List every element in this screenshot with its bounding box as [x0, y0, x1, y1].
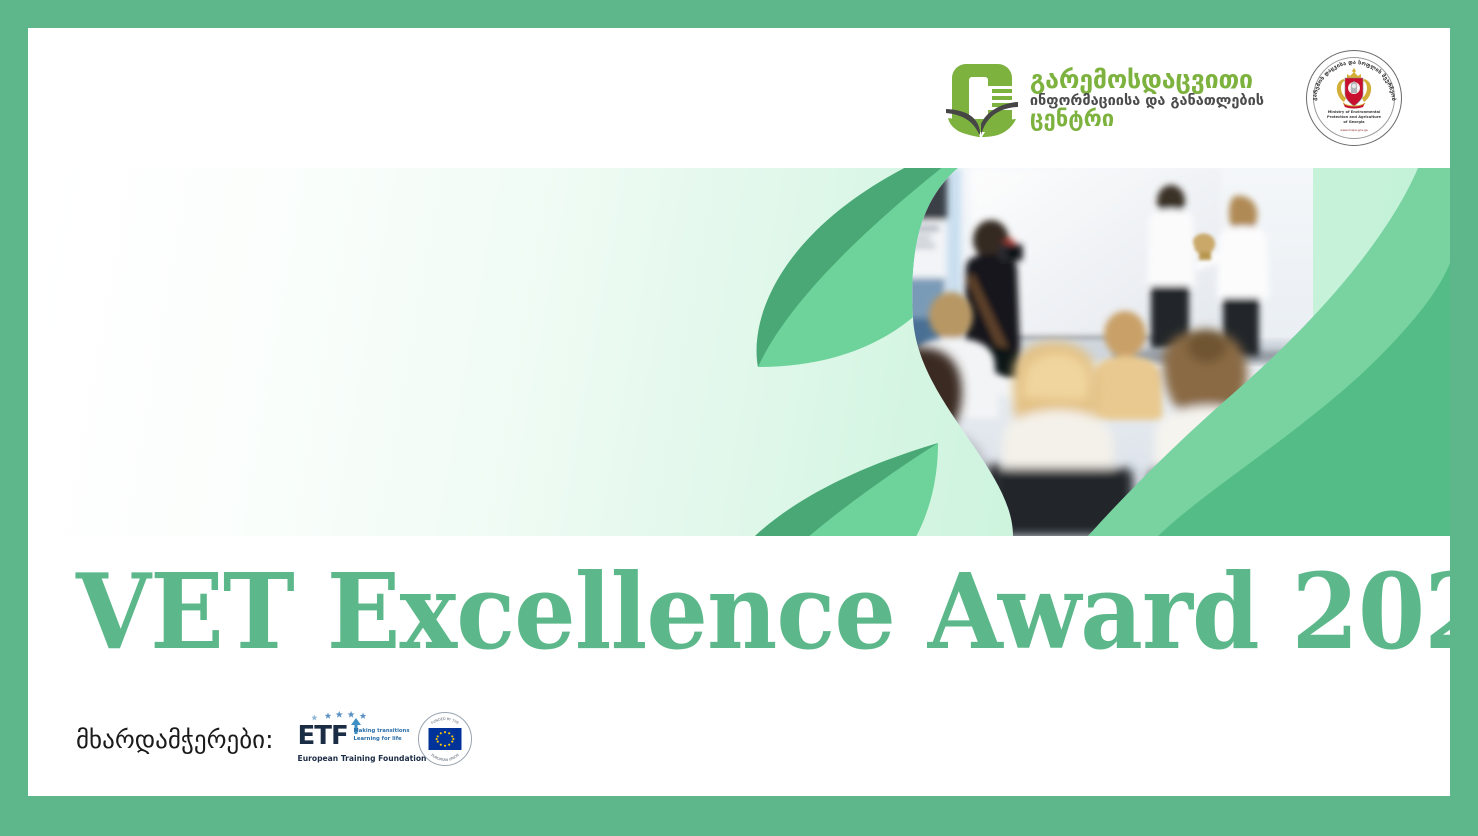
eu-flag-icon — [428, 728, 461, 750]
page-title: VET Excellence Award 2022 — [76, 560, 1450, 664]
eiec-logo[interactable]: გარემოსდაცვითი ინფორმაციისა და განათლები… — [942, 58, 1264, 138]
eu-seal-arc-bottom: EUROPEAN UNION — [430, 753, 460, 762]
etf-logo[interactable]: ETF Making transitions Learning for life… — [298, 710, 394, 768]
leaf-shape-icon — [648, 443, 948, 536]
header-logo-group: გარემოსდაცვითი ინფორმაციისა და განათლები… — [942, 50, 1402, 146]
etf-tagline-line1: Making transitions — [354, 728, 410, 734]
eu-funded-seal[interactable]: FUNDED BY THE EUROPEAN UNION — [418, 712, 472, 766]
georgia-coat-of-arms-icon — [1331, 66, 1377, 110]
seal-caption: Ministry of Environmental Protection and… — [1306, 110, 1402, 126]
hero-banner-inner — [48, 168, 1450, 536]
etf-acronym: ETF — [298, 723, 348, 749]
supporters-label: მხარდამჭერები: — [76, 725, 274, 754]
svg-text:FUNDED BY THE: FUNDED BY THE — [430, 717, 459, 725]
eiec-logo-line2: ინფორმაციისა და განათლების — [1030, 94, 1264, 109]
etf-full-name: European Training Foundation — [298, 754, 427, 763]
ministry-seal-logo[interactable]: საქართველოს გარემოს დაცვისა და სოფლის მე… — [1306, 50, 1402, 146]
svg-text:EUROPEAN UNION: EUROPEAN UNION — [430, 753, 460, 762]
eu-seal-arc-top: FUNDED BY THE — [430, 717, 459, 725]
seal-caption-line3: of Georgia — [1306, 120, 1402, 125]
supporters-row: მხარდამჭერები: ETF — [76, 704, 472, 774]
header: გარემოსდაცვითი ინფორმაციისა და განათლები… — [28, 28, 1450, 168]
eiec-book-mark-icon — [942, 58, 1020, 138]
eiec-logo-text: გარემოსდაცვითი ინფორმაციისა და განათლები… — [1030, 65, 1264, 132]
seal-url: www.mepa.gov.ge — [1306, 128, 1402, 132]
etf-tagline: Making transitions Learning for life — [354, 727, 410, 744]
poster-frame: გარემოსდაცვითი ინფორმაციისა და განათლები… — [0, 0, 1478, 836]
hero-banner — [48, 168, 1450, 536]
title-area: VET Excellence Award 2022 — [28, 536, 1450, 686]
poster-card: გარემოსდაცვითი ინფორმაციისა და განათლები… — [28, 28, 1450, 796]
eiec-logo-line3: ცენტრი — [1030, 109, 1264, 131]
etf-tagline-line2: Learning for life — [354, 736, 402, 742]
eiec-logo-line1: გარემოსდაცვითი — [1030, 67, 1264, 92]
